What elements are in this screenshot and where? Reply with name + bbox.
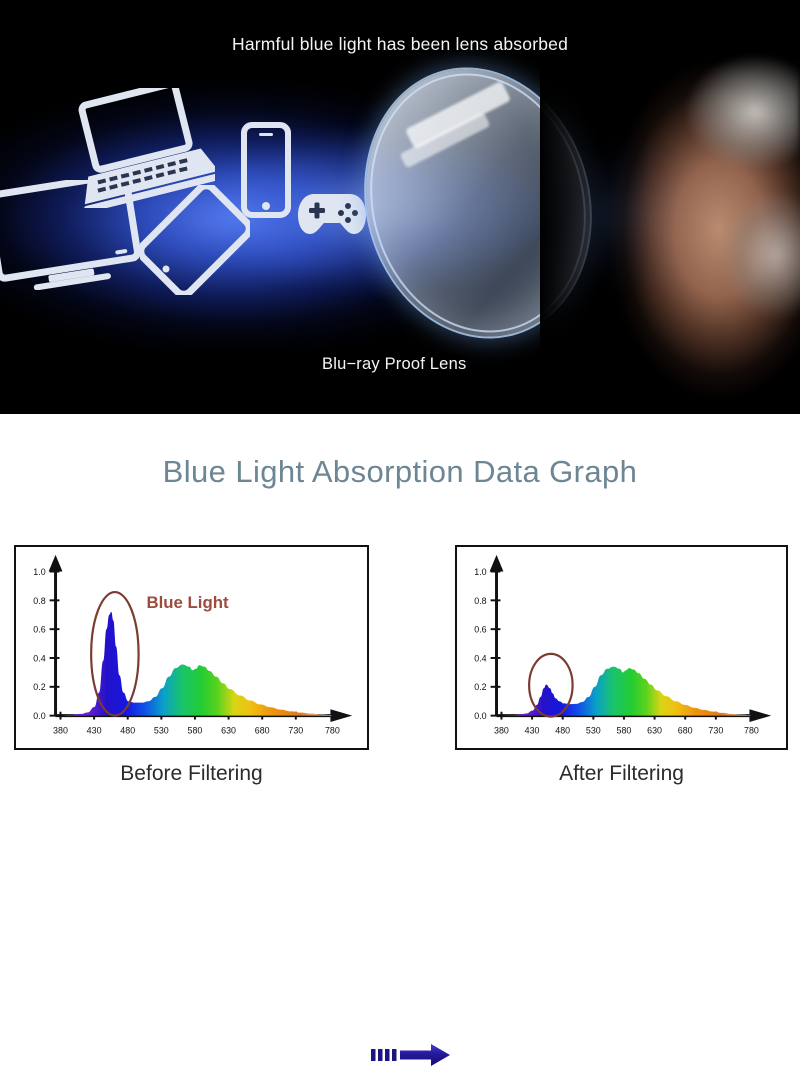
ytick-5: 1.0 (33, 567, 45, 577)
xtick-580: 580 (188, 725, 203, 735)
spectrum-area-after (501, 667, 750, 716)
transition-arrow (371, 1042, 451, 1068)
page-title: Blue Light Absorption Data Graph (0, 454, 800, 490)
xtick-780: 780 (325, 725, 340, 735)
ytick-4: 0.8 (33, 596, 45, 606)
xtick-530: 530 (154, 725, 169, 735)
xtick-730: 730 (708, 725, 723, 735)
spectrum-area-before (60, 612, 331, 716)
xtick-630: 630 (221, 725, 236, 735)
hero-headline: Harmful blue light has been lens absorbe… (232, 34, 568, 55)
ytick-5: 1.0 (474, 567, 486, 577)
xtick-680: 680 (255, 725, 270, 735)
xtick-630: 630 (647, 725, 662, 735)
blue-light-annotation-label: Blue Light (147, 593, 230, 612)
face-shadow-overlay (540, 46, 650, 414)
ytick-4: 0.8 (474, 596, 486, 606)
xtick-480: 480 (120, 725, 135, 735)
xtick-580: 580 (617, 725, 632, 735)
ytick-3: 0.6 (474, 625, 486, 635)
game-controller-icon (296, 184, 368, 240)
ytick-1: 0.2 (33, 682, 45, 692)
chart-before-svg: 0.0 0.2 0.4 0.6 0.8 1.0 380 430 (16, 547, 367, 748)
xtick-380: 380 (53, 725, 68, 735)
ytick-3: 0.6 (33, 625, 45, 635)
xtick-430: 430 (87, 725, 102, 735)
xtick-380: 380 (494, 725, 509, 735)
ytick-0: 0.0 (33, 711, 45, 721)
hero-image: Harmful blue light has been lens absorbe… (0, 0, 800, 414)
hero-lens-caption: Blu−ray Proof Lens (322, 355, 466, 374)
xtick-730: 730 (288, 725, 303, 735)
data-graph-panel: Blue Light Absorption Data Graph (0, 414, 800, 800)
xtick-680: 680 (678, 725, 693, 735)
ytick-0: 0.0 (474, 711, 486, 721)
person-hair-side (690, 180, 800, 330)
caption-before-filtering: Before Filtering (14, 762, 369, 786)
xtick-480: 480 (555, 725, 570, 735)
tablet-icon (140, 185, 250, 295)
xtick-780: 780 (744, 725, 759, 735)
chart-before-filtering: 0.0 0.2 0.4 0.6 0.8 1.0 380 430 (14, 545, 369, 750)
chart-after-svg: 0.0 0.2 0.4 0.6 0.8 1.0 380 430 480 (457, 547, 786, 748)
right-arrow-icon (371, 1042, 451, 1068)
xtick-530: 530 (586, 725, 601, 735)
xtick-430: 430 (525, 725, 540, 735)
smartphone-icon (240, 122, 292, 218)
ytick-2: 0.4 (474, 653, 486, 663)
chart-after-filtering: 0.0 0.2 0.4 0.6 0.8 1.0 380 430 480 (455, 545, 788, 750)
ytick-2: 0.4 (33, 653, 45, 663)
ytick-1: 0.2 (474, 682, 486, 692)
caption-after-filtering: After Filtering (455, 762, 788, 786)
